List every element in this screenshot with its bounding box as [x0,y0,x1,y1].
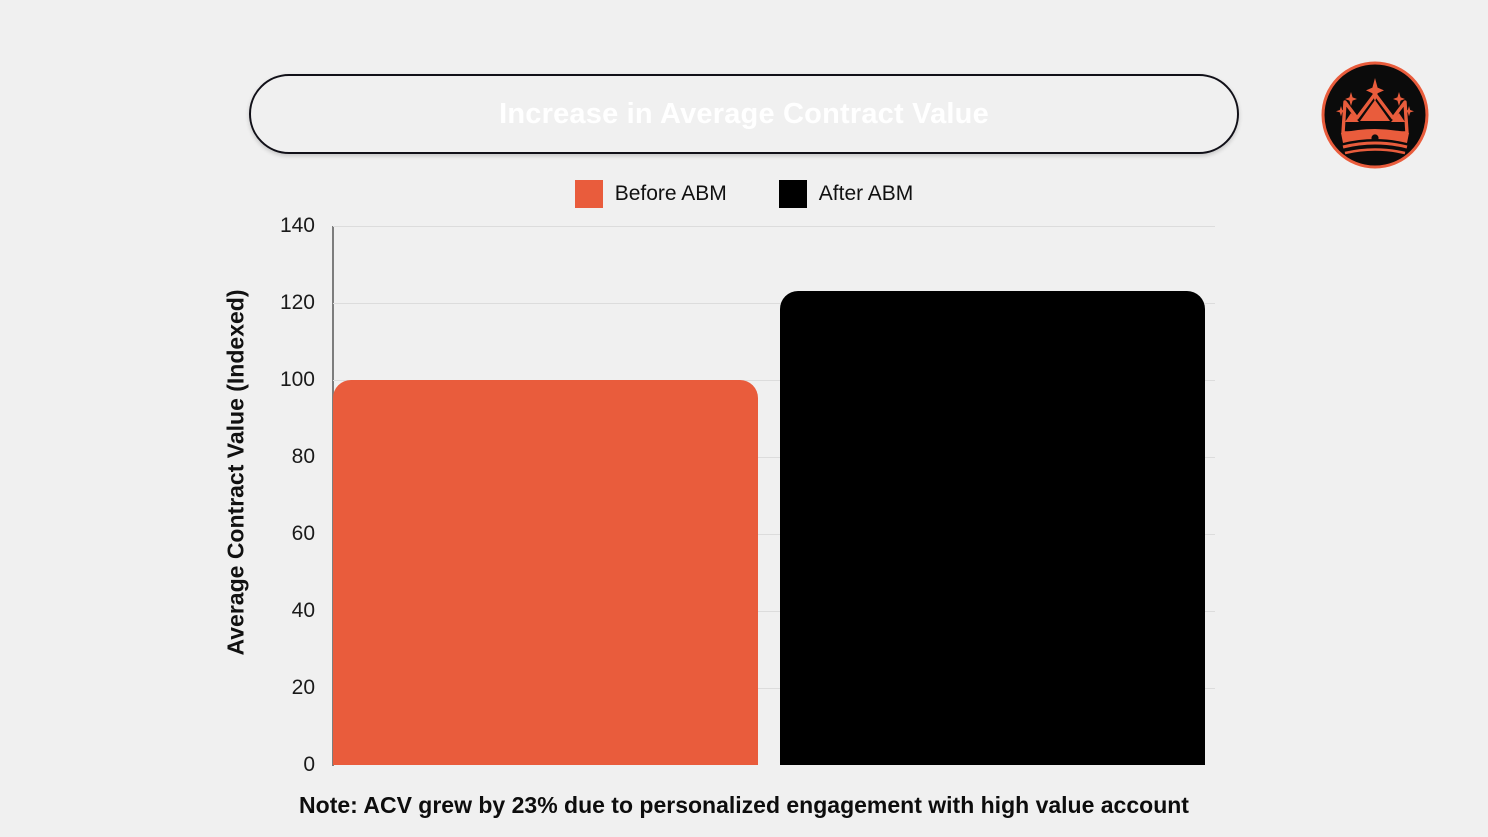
plot-area [333,226,1215,765]
y-axis-tick-label: 0 [303,753,315,777]
y-axis-tick-labels: 020406080100120140 [255,226,315,765]
y-axis-title-text: Average Contract Value (Indexed) [223,289,250,655]
gridline [333,226,1215,227]
y-axis-tick-label: 140 [280,214,315,238]
y-axis-title: Average Contract Value (Indexed) [221,262,251,682]
bar-before-abm [333,380,758,765]
y-axis-tick-label: 120 [280,291,315,315]
y-axis-tick-label: 80 [292,445,315,469]
y-axis-tick-label: 40 [292,599,315,623]
bar-after-abm [780,291,1205,765]
y-axis-tick-label: 60 [292,522,315,546]
y-axis-tick-label: 100 [280,368,315,392]
y-axis-tick-label: 20 [292,676,315,700]
bar-chart: Average Contract Value (Indexed) 0204060… [0,0,1488,837]
chart-note: Note: ACV grew by 23% due to personalize… [0,792,1488,819]
